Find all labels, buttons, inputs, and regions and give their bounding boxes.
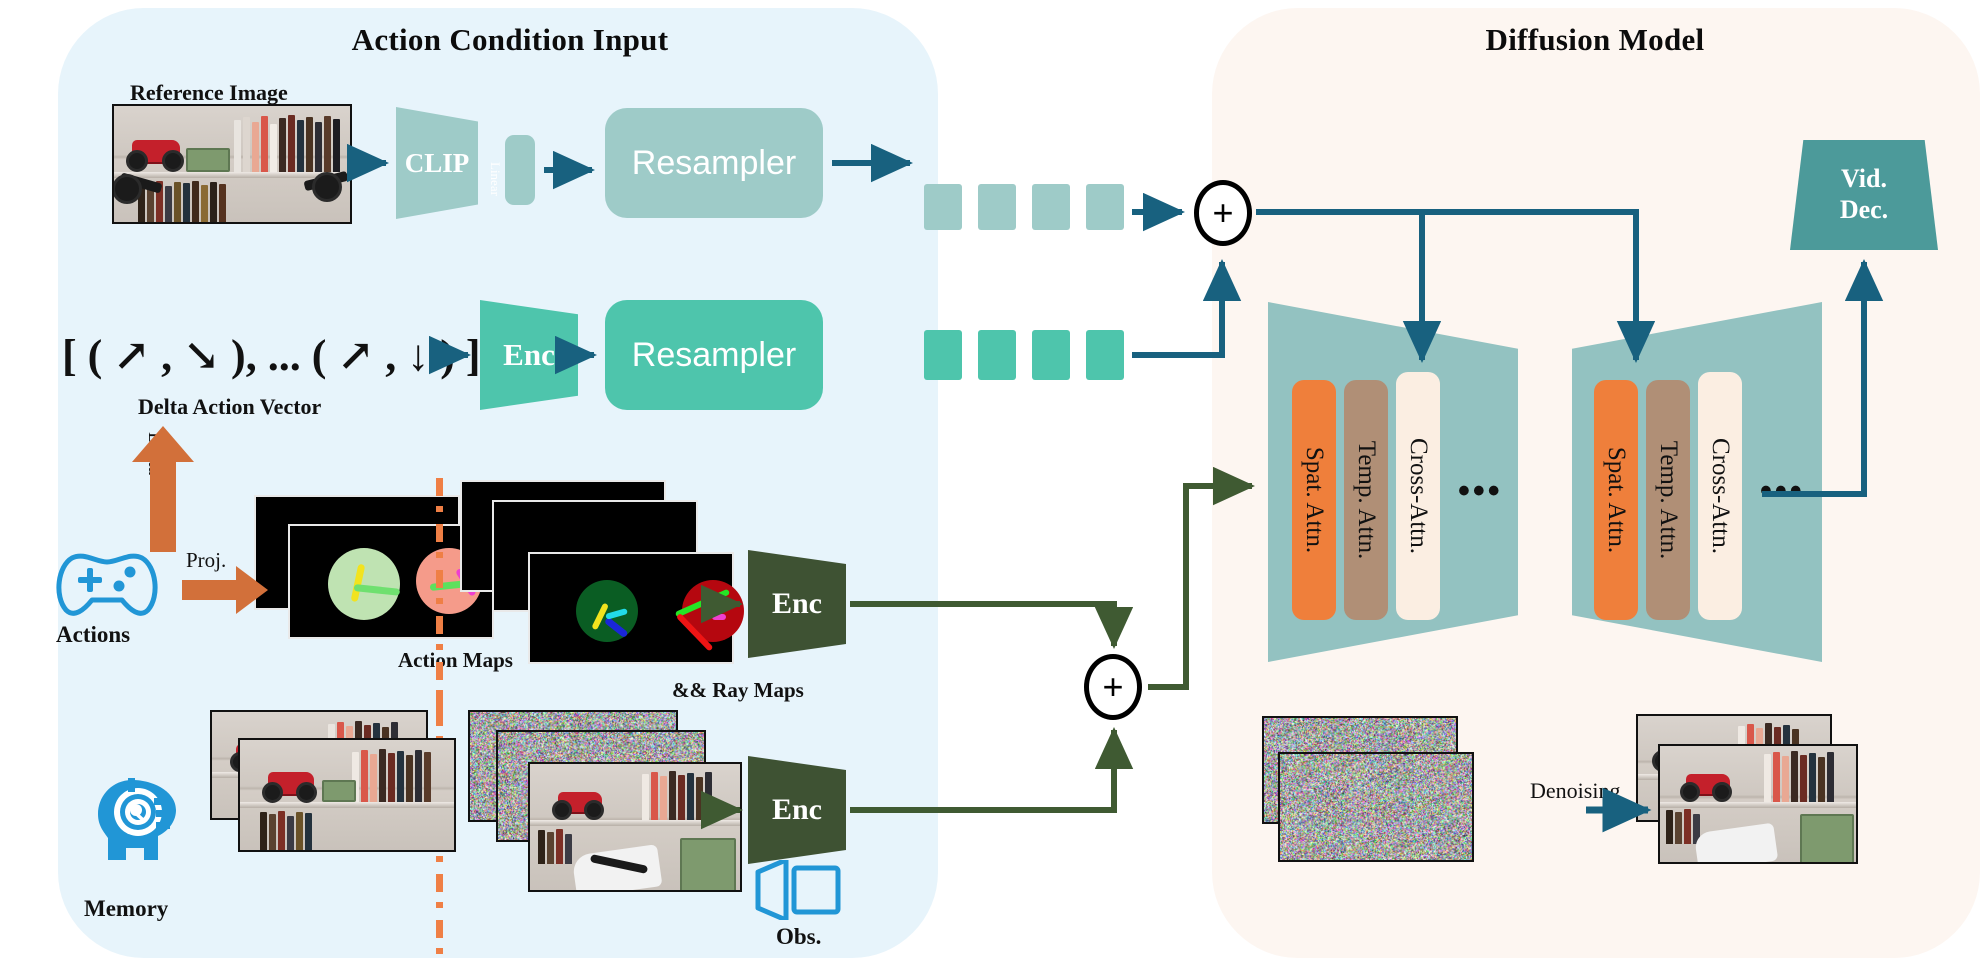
denoise-noisy-front	[1278, 752, 1474, 862]
vid-dec-line1: Vid.	[1841, 164, 1887, 195]
memory-frame-front	[238, 738, 456, 852]
vid-dec-line2: Dec.	[1840, 195, 1888, 226]
obs-label: Obs.	[776, 924, 821, 950]
up-spatial-attention[interactable]: Spat. Attn.	[1594, 380, 1638, 620]
plus-circle-image-action: +	[1194, 180, 1252, 246]
ray-maps-label: && Ray Maps	[672, 678, 804, 703]
down-temporal-attention[interactable]: Temp. Attn.	[1344, 380, 1388, 620]
memory-label: Memory	[84, 896, 168, 922]
linear-layer-block[interactable]: Linear	[505, 135, 535, 205]
up-temporal-attention[interactable]: Temp. Attn.	[1646, 380, 1690, 620]
ray-stick-magenta	[712, 614, 726, 620]
gamepad-icon	[52, 550, 162, 620]
denoise-clean-front	[1658, 744, 1858, 864]
image-token-2	[978, 184, 1016, 230]
delta-action-vector-expression: [ ( ↗ , ↘ ), ... ( ↗ , ↓ ) ]	[62, 330, 422, 396]
action-blob-left	[328, 548, 400, 620]
up-block-ellipsis: •••	[1760, 472, 1805, 511]
delta-expression-text: [ ( ↗ , ↘ ), ... ( ↗ , ↓ ) ]	[62, 331, 481, 380]
action-encoder-block[interactable]: Enc	[480, 300, 578, 410]
obs-frame-front	[528, 762, 742, 892]
image-token-4	[1086, 184, 1124, 230]
actions-label: Actions	[56, 622, 130, 648]
ray-map-front	[528, 552, 734, 664]
action-token-2	[978, 330, 1016, 380]
resampler-action-block[interactable]: Resampler	[605, 300, 823, 410]
action-token-3	[1032, 330, 1070, 380]
plus-circle-raymaps-obs: +	[1084, 654, 1142, 720]
video-decoder-block[interactable]: Vid. Dec.	[1790, 140, 1938, 250]
arrow-action-tokens-to-plus	[1132, 262, 1222, 355]
figure-canvas: Action Condition Input Diffusion Model R…	[0, 0, 1988, 980]
up-cross-attention[interactable]: Cross-Attn.	[1698, 372, 1742, 620]
page-title-left: Action Condition Input	[300, 22, 720, 58]
memory-head-icon	[86, 772, 182, 868]
reference-image	[112, 104, 352, 224]
ray-blob-green	[576, 580, 638, 642]
delta-action-vector-label: Delta Action Vector	[138, 394, 321, 420]
page-title-right: Diffusion Model	[1380, 22, 1810, 58]
action-token-4	[1086, 330, 1124, 380]
down-cross-attention[interactable]: Cross-Attn.	[1396, 372, 1440, 620]
action-token-1	[924, 330, 962, 380]
down-spatial-attention[interactable]: Spat. Attn.	[1292, 380, 1336, 620]
action-maps-label: Action Maps	[398, 648, 513, 673]
resampler-image-block[interactable]: Resampler	[605, 108, 823, 218]
down-block-ellipsis: •••	[1458, 472, 1503, 511]
clip-encoder-block[interactable]: CLIP	[396, 107, 478, 219]
linear-label: Linear	[487, 162, 503, 196]
image-token-3	[1032, 184, 1070, 230]
reference-image-label: Reference Image	[130, 80, 288, 106]
ray-maps-encoder-block[interactable]: Enc	[748, 550, 846, 658]
camera-icon	[752, 860, 844, 920]
obs-encoder-block[interactable]: Enc	[748, 756, 846, 864]
image-token-1	[924, 184, 962, 230]
delta-arrow-label: Delta	[143, 432, 166, 475]
proj-label: Proj.	[186, 548, 226, 573]
denoising-label: Denoising	[1530, 778, 1620, 804]
